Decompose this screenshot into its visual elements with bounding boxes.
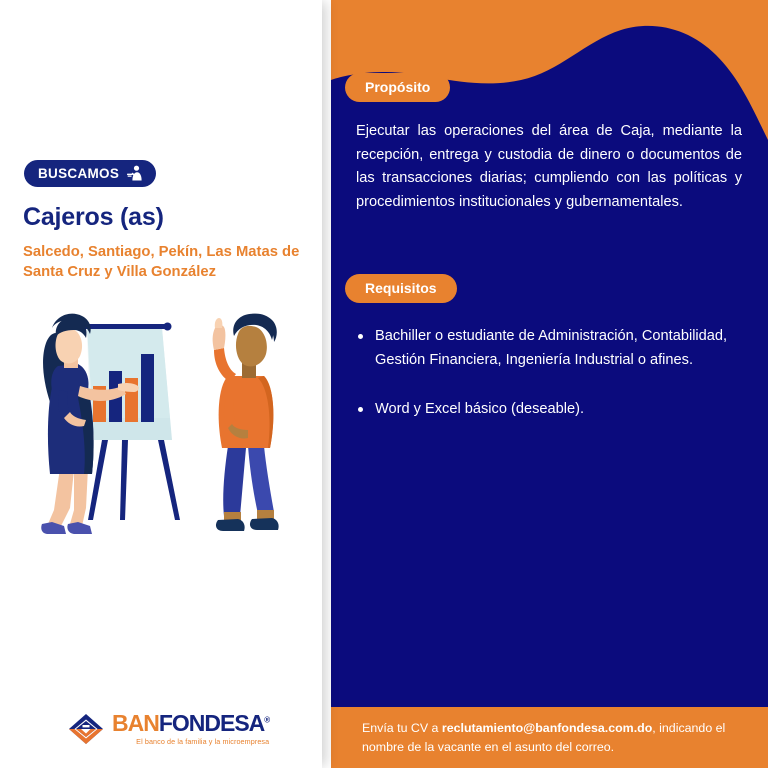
page-title: Cajeros (as) <box>23 203 164 232</box>
list-item: Word y Excel básico (deseable). <box>356 398 728 422</box>
logo-word-fondesa: FONDESA <box>159 710 264 736</box>
section-pill-requisitos: Requisitos <box>345 274 457 303</box>
proposito-body-text: Ejecutar las operaciones del área de Caj… <box>356 120 742 215</box>
footer-cv-bar: Envía tu CV a reclutamiento@banfondesa.c… <box>331 707 768 768</box>
registered-mark: ® <box>264 715 269 724</box>
requisitos-list: Bachiller o estudiante de Administración… <box>356 325 728 448</box>
buscamos-badge: BUSCAMOS <box>24 160 156 187</box>
list-item: Bachiller o estudiante de Administración… <box>356 325 728 372</box>
banfondesa-logo: BANFONDESA® El banco de la familia y la … <box>68 712 283 754</box>
recruitment-email[interactable]: reclutamiento@banfondesa.com.do <box>442 721 652 735</box>
left-white-card: BUSCAMOS Cajeros (as) Salcedo, Santiago,… <box>0 0 322 768</box>
buscamos-label: BUSCAMOS <box>38 166 119 181</box>
footer-prefix: Envía tu CV a <box>362 721 442 735</box>
teller-person-icon <box>126 165 143 181</box>
logo-word-ban: BAN <box>112 710 159 736</box>
banfondesa-diamond-icon <box>68 713 104 745</box>
job-posting-poster: Propósito Ejecutar las operaciones del á… <box>0 0 768 768</box>
footer-cv-text: Envía tu CV a reclutamiento@banfondesa.c… <box>331 719 768 756</box>
logo-word: BANFONDESA® <box>112 712 269 735</box>
logo-tagline: El banco de la familia y la microempresa <box>112 738 269 745</box>
banfondesa-wordmark: BANFONDESA® El banco de la familia y la … <box>112 712 269 745</box>
people-illustration <box>30 298 315 548</box>
section-pill-proposito: Propósito <box>345 73 450 102</box>
job-locations: Salcedo, Santiago, Pekín, Las Matas de S… <box>23 243 318 282</box>
